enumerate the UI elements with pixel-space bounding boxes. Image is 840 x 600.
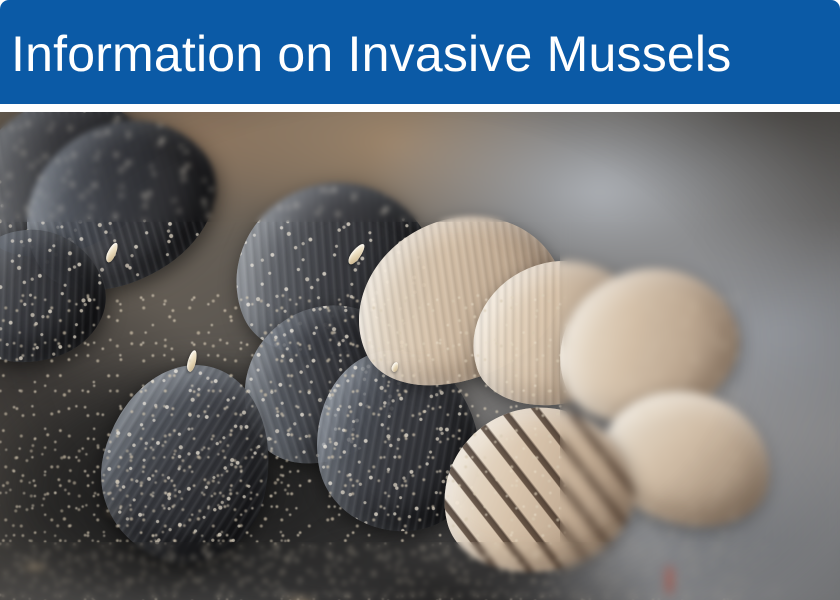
page-header-banner: Information on Invasive Mussels — [0, 0, 840, 104]
photo-red-fleck — [667, 567, 672, 593]
invasive-mussels-photo — [0, 112, 840, 600]
page-root: Information on Invasive Mussels — [0, 0, 840, 600]
page-title: Information on Invasive Mussels — [11, 28, 731, 80]
banner-photo-divider — [0, 104, 840, 112]
photo-sediment-grains-3 — [0, 442, 290, 600]
photo-sediment-grains-2 — [260, 542, 780, 600]
